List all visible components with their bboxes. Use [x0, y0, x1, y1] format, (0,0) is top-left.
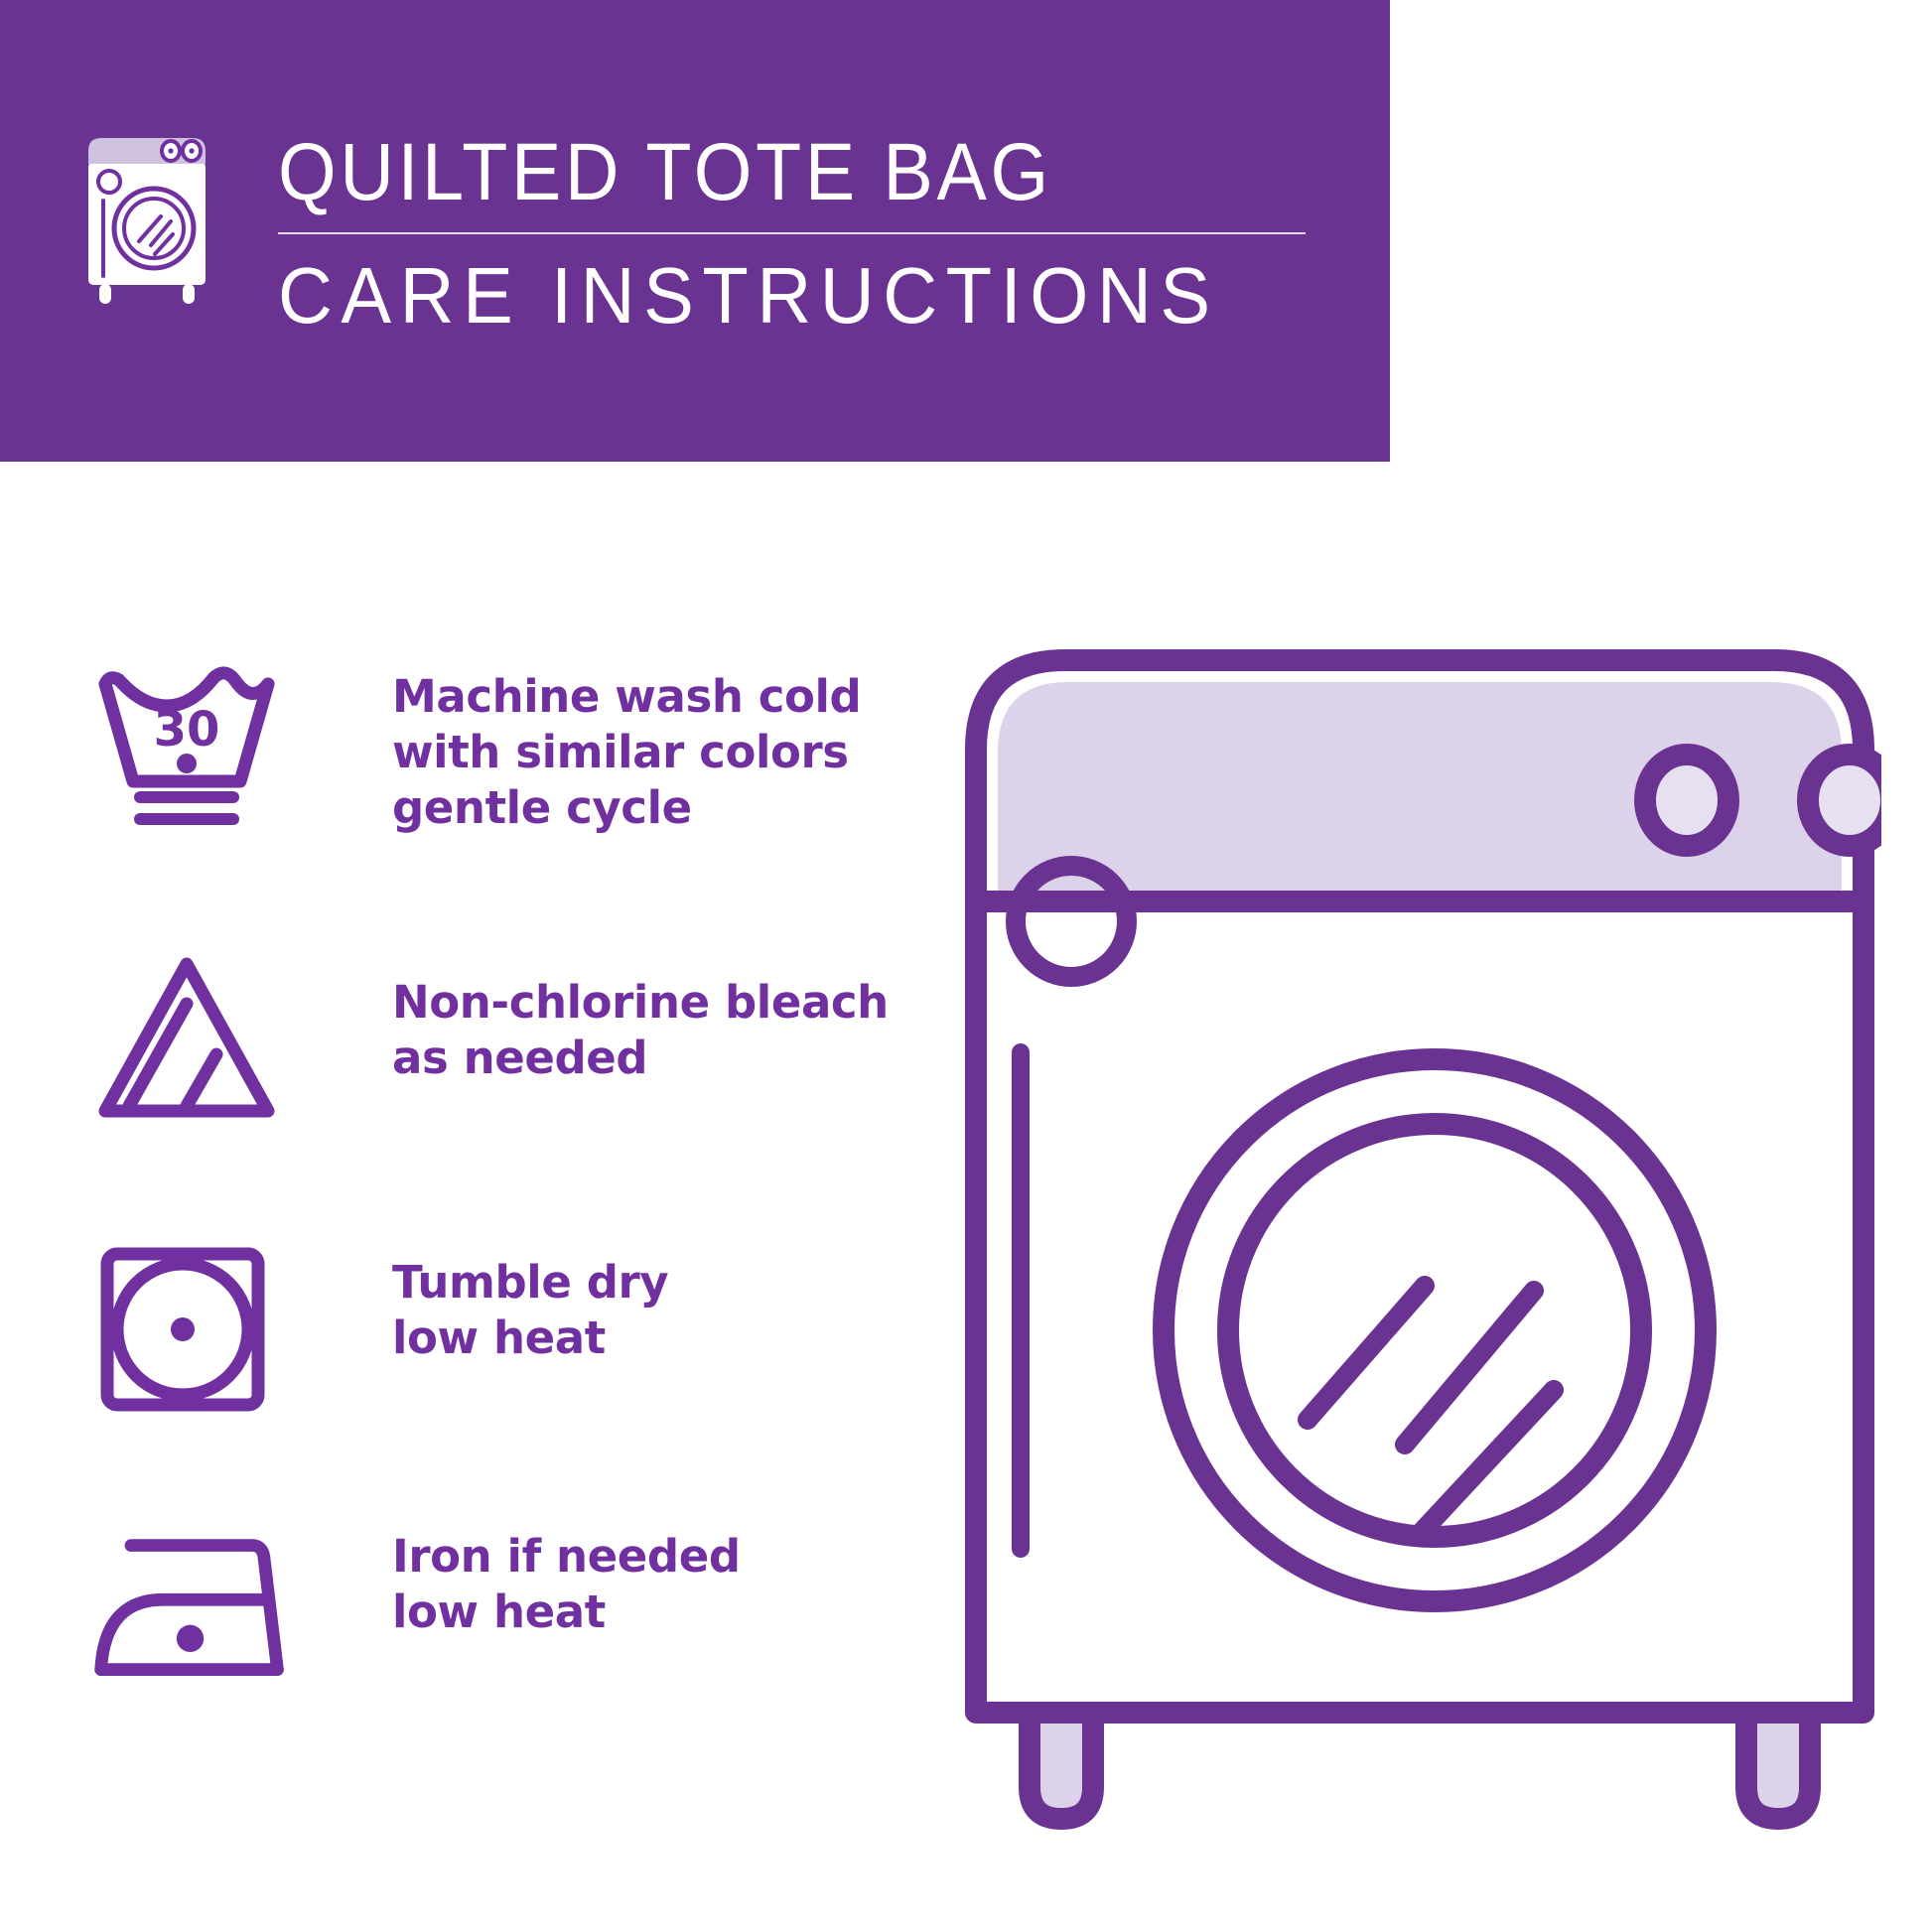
tumble-dry-low-icon: [87, 1235, 296, 1424]
header-title-group: QUILTED TOTE BAG CARE INSTRUCTIONS: [278, 127, 1325, 342]
machine-wash-30-icon: 30: [87, 655, 296, 844]
list-item: Non-chlorine bleach as needed: [0, 933, 933, 1211]
iron-low-heat-icon: [87, 1517, 296, 1706]
list-item: Tumble dry low heat: [0, 1211, 933, 1489]
page-title: QUILTED TOTE BAG: [278, 127, 1242, 218]
washing-machine-icon: [77, 129, 231, 313]
page-subtitle: CARE INSTRUCTIONS: [278, 250, 1273, 342]
list-item-label: Non-chlorine bleach as needed: [392, 975, 889, 1086]
list-item: 30 Machine wash cold with similar colors…: [0, 655, 933, 933]
list-item-label: Tumble dry low heat: [392, 1255, 668, 1366]
header-banner: QUILTED TOTE BAG CARE INSTRUCTIONS: [0, 0, 1390, 462]
title-divider: [278, 232, 1306, 234]
list-item: Iron if needed low heat: [0, 1489, 933, 1767]
washing-machine-illustration: [958, 635, 1881, 1896]
care-instruction-list: 30 Machine wash cold with similar colors…: [0, 655, 933, 1767]
list-item-label: Iron if needed low heat: [392, 1529, 741, 1640]
list-item-label: Machine wash cold with similar colors ge…: [392, 669, 861, 836]
non-chlorine-bleach-icon: [87, 947, 296, 1136]
wash-temp-label: 30: [154, 702, 220, 758]
